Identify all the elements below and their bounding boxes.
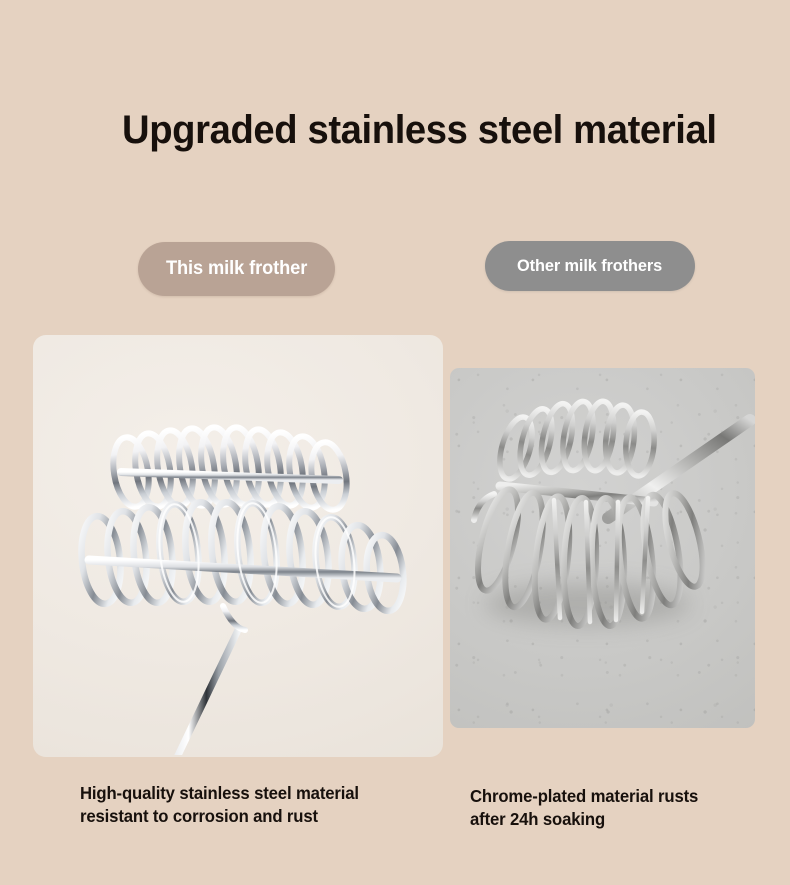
- milk-frother-whisk-dull-icon: [458, 390, 755, 680]
- caption-this-frother-line1: High-quality stainless steel material: [80, 782, 359, 805]
- label-pill-this-frother: This milk frother: [138, 242, 335, 296]
- product-image-other-frothers: [450, 368, 755, 728]
- label-pill-other-frothers-text: Other milk frothers: [517, 256, 662, 276]
- milk-frother-whisk-chrome-icon: [53, 410, 443, 755]
- caption-other-frothers-line1: Chrome-plated material rusts: [470, 785, 698, 808]
- caption-other-frothers: Chrome-plated material rusts after 24h s…: [470, 785, 698, 832]
- label-pill-other-frothers: Other milk frothers: [485, 241, 695, 291]
- caption-this-frother: High-quality stainless steel material re…: [80, 782, 359, 829]
- product-image-this-frother: [33, 335, 443, 757]
- page-title: Upgraded stainless steel material: [122, 108, 717, 153]
- caption-this-frother-line2: resistant to corrosion and rust: [80, 805, 359, 828]
- label-pill-this-frother-text: This milk frother: [166, 258, 307, 280]
- caption-other-frothers-line2: after 24h soaking: [470, 808, 698, 831]
